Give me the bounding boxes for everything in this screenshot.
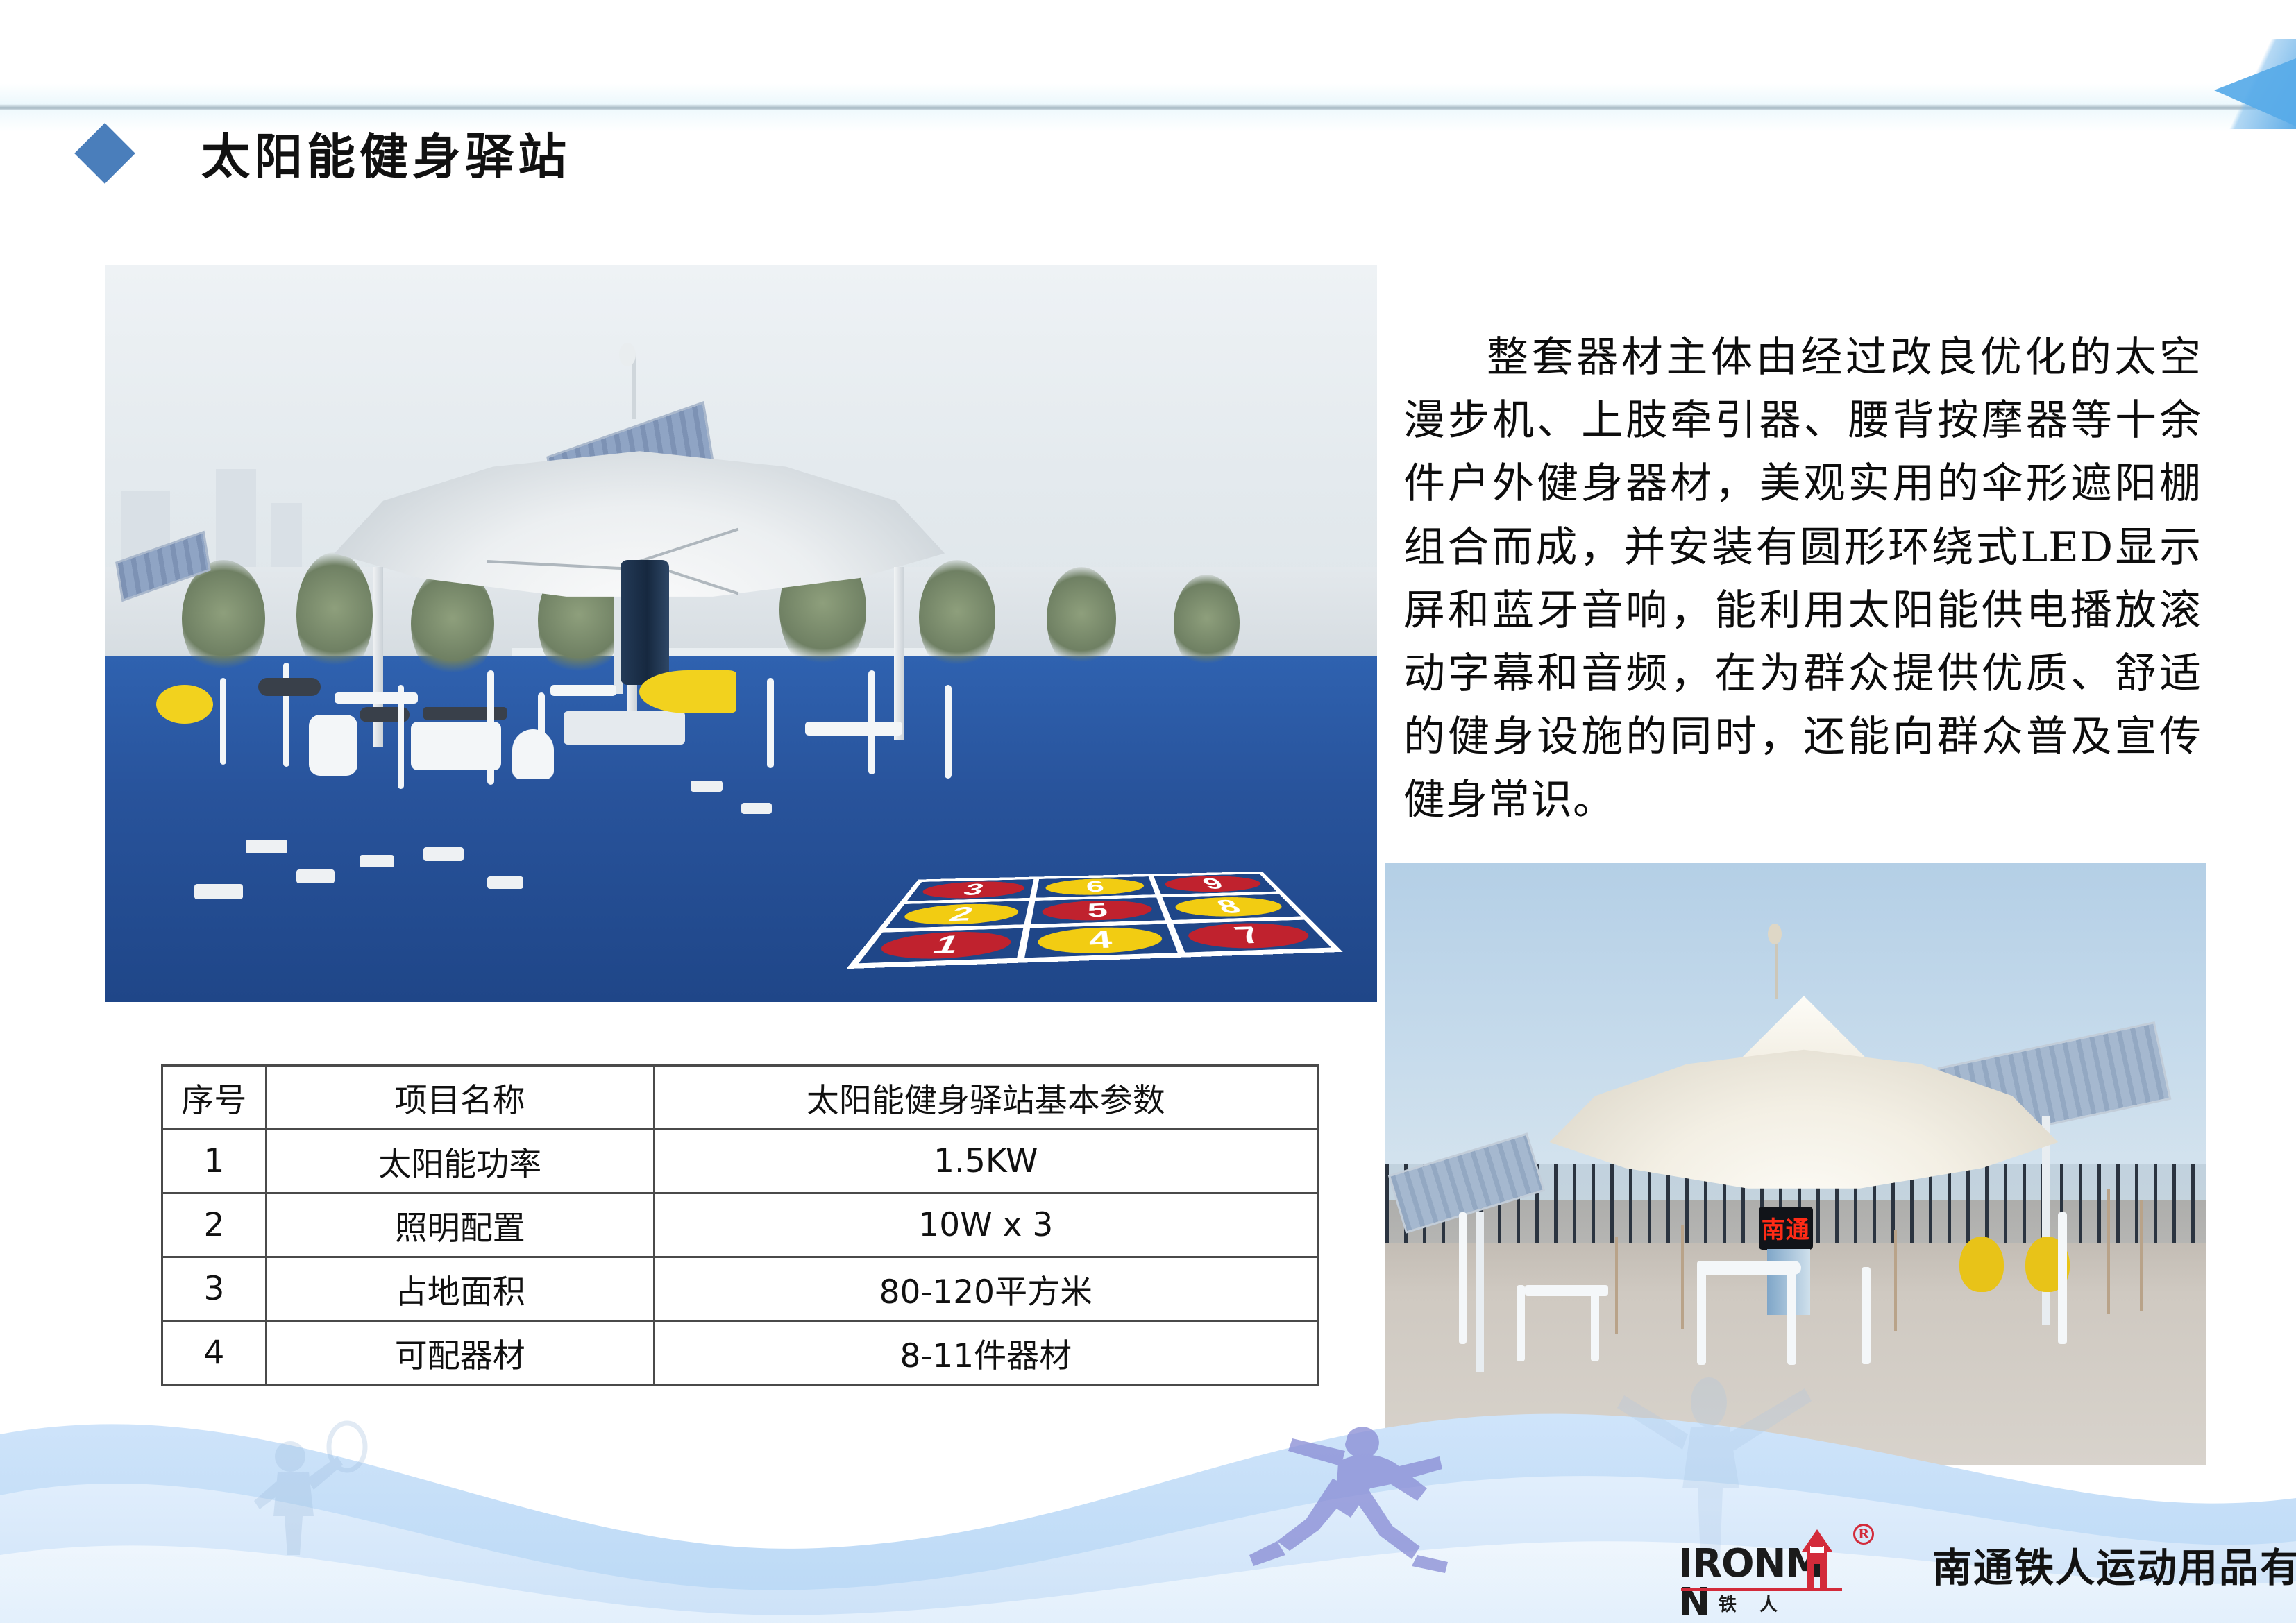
table-cell-name: 占地面积 [266,1257,654,1321]
photo-kiosk-base [564,711,685,745]
photo2-canopy-spire-icon [1775,935,1778,999]
photo-led-display-cylinder [621,560,669,685]
photo-tree [1047,567,1116,671]
hopscotch-cell: 8 [1162,894,1301,920]
table-row: 3占地面积80-120平方米 [162,1257,1318,1321]
hopscotch-cell: 2 [886,901,1029,928]
table-header-index: 序号 [162,1066,267,1130]
photo-tree [919,560,995,674]
hopscotch-cell: 5 [1031,897,1165,924]
hopscotch-number: 8 [1171,896,1290,918]
photo-equipment-bench [805,722,902,736]
hopscotch-number: 7 [1183,921,1319,950]
photo-equipment [398,685,404,789]
photo2-equipment-frame [1591,1285,1599,1361]
photo-canopy-finial-icon [619,343,636,366]
table-cell-name: 太阳能功率 [266,1130,654,1193]
photo2-canopy-finial-icon [1768,924,1782,944]
photo-floor-marking [360,855,394,867]
photo-equipment-arm [423,707,507,720]
table-cell-index: 3 [162,1257,267,1321]
ironman-logo: IRONMN 铁 人 R [1678,1524,1886,1606]
table-row: 1太阳能功率1.5KW [162,1130,1318,1193]
hopscotch-number: 6 [1045,878,1147,896]
photo-tree [296,552,373,677]
photo-main-fitness-station: 369258147 [105,265,1377,1002]
hopscotch-cell: 7 [1173,919,1331,952]
photo-equipment-bike [309,715,357,776]
photo2-equipment-frame [2058,1212,2067,1344]
photo2-bare-branch [1681,1225,1684,1329]
photo2-solar-mast [1476,1212,1484,1372]
header-accent-triangle-icon [2214,58,2296,126]
logo-wordmark-tail: N [1678,1580,1710,1623]
photo2-equipment-walker [1697,1261,1801,1275]
hopscotch-number: 1 [872,930,1013,960]
photo2-equipment-frame [1697,1261,1706,1365]
photo-tree [182,560,265,678]
table-cell-index: 2 [162,1193,267,1257]
table-cell-name: 可配器材 [266,1321,654,1385]
photo-equipment [945,685,952,779]
table-cell-name: 照明配置 [266,1193,654,1257]
photo2-equipment [1459,1212,1467,1344]
photo-equipment [335,692,418,704]
photo2-bare-branch [2140,1200,2143,1311]
hopscotch-cell: 9 [1154,874,1276,894]
hopscotch-cell: 4 [1024,924,1177,958]
photo-equipment [220,678,226,765]
photo2-equipment-frame [1517,1285,1525,1361]
logo-chinese-name: 铁 人 [1719,1590,1786,1616]
photo-floor-marking [423,847,464,861]
table-cell-value: 1.5KW [654,1130,1317,1193]
photo-floor-marking [741,803,772,814]
table-cell-value: 8-11件器材 [654,1321,1317,1385]
table-row: 2照明配置10W x 3 [162,1193,1318,1257]
photo2-equipment-frame [1787,1261,1796,1365]
description-paragraph: 整套器材主体由经过改良优化的太空漫步机、上肢牵引器、腰背按摩器等十余件户外健身器… [1403,326,2202,833]
photo-equipment-yellow-slide [639,670,736,713]
photo-equipment [512,729,554,779]
hopscotch-cell: 6 [1036,876,1155,898]
photo2-solar-mast [2042,1116,2050,1325]
table-cell-value: 10W x 3 [654,1193,1317,1257]
hopscotch-cell: 3 [906,879,1033,901]
hopscotch-number: 5 [1040,899,1155,922]
company-name: 南通铁人运动用品有限公司 [1932,1536,2296,1593]
photo-floor-marking [296,869,335,883]
diamond-bullet-icon [74,123,135,184]
photo-floor-marking [246,840,287,853]
table-row: 4可配器材8-11件器材 [162,1321,1318,1385]
hopscotch-cell: 1 [859,928,1024,963]
registered-trademark-icon: R [1853,1524,1874,1545]
photo-equipment [487,670,494,785]
photo2-bare-branch [2107,1189,2110,1314]
photo-floor-marking [691,781,723,792]
header-divider-rule [0,104,2256,110]
photo2-equipment-frame [1862,1267,1871,1364]
hopscotch-number: 3 [917,881,1026,899]
photo-hopscotch-grid: 369258147 [846,872,1343,969]
photo2-bare-branch [1615,1237,1618,1334]
photo2-equipment-yellow-disc [1959,1237,2004,1292]
footer-brand: IRONMN 铁 人 R 南通铁人运动用品有限公司 [1678,1524,2296,1606]
hopscotch-number: 9 [1162,875,1268,893]
photo-equipment [868,670,875,774]
photo2-bare-branch [1894,1230,1897,1331]
table-cell-index: 1 [162,1130,267,1193]
photo-equipment [550,685,616,696]
photo-equipment [767,678,774,768]
slide-root: 太阳能健身驿站 [0,0,2296,1623]
hopscotch-number: 4 [1036,926,1166,955]
photo-second-fitness-station: 南通 [1385,863,2206,1465]
photo-equipment-seat [258,678,321,696]
table-header-value: 太阳能健身驿站基本参数 [654,1066,1317,1130]
hopscotch-number: 2 [897,903,1020,926]
photo-floor-marking [194,884,243,899]
ironman-figure-icon [1792,1528,1842,1589]
table-header-name: 项目名称 [266,1066,654,1130]
parameter-table: 序号 项目名称 太阳能健身驿站基本参数 1太阳能功率1.5KW2照明配置10W … [161,1064,1319,1386]
photo-floor-marking [487,876,523,889]
photo-tree [1174,575,1240,672]
photo-canopy-post [894,567,904,740]
table-header-row: 序号 项目名称 太阳能健身驿站基本参数 [162,1066,1318,1130]
photo2-led-display: 南通 [1759,1207,1813,1250]
page-title-row: 太阳能健身驿站 [83,118,571,188]
tennis-player-silhouette-icon [254,1423,365,1555]
page-title: 太阳能健身驿站 [201,118,571,188]
table-cell-index: 4 [162,1321,267,1385]
table-cell-value: 80-120平方米 [654,1257,1317,1321]
